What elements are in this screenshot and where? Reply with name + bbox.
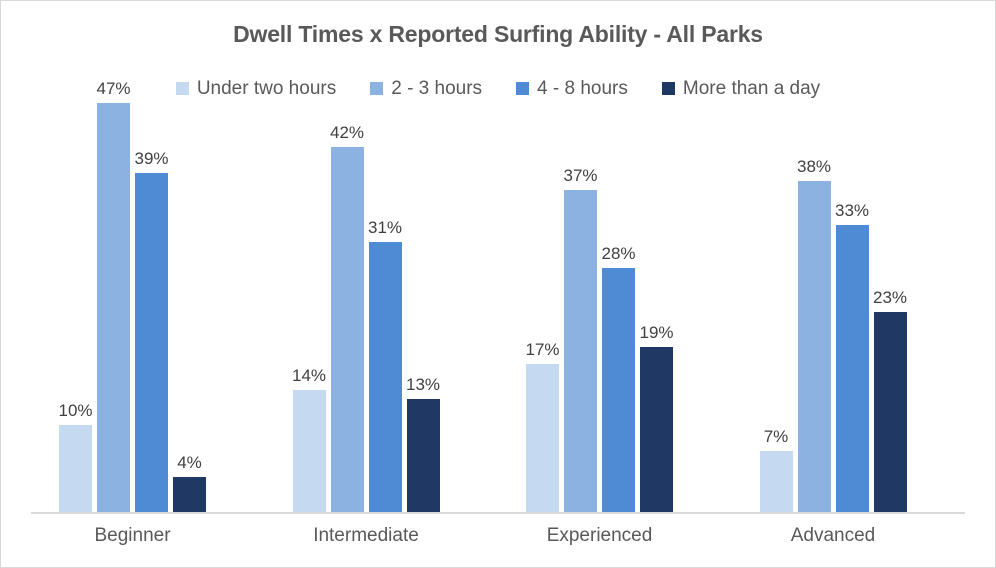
bar[interactable] xyxy=(640,347,673,512)
bar[interactable] xyxy=(836,225,869,512)
bar-wrap: 33% xyxy=(836,61,869,512)
bar[interactable] xyxy=(526,364,559,512)
bar-wrap: 39% xyxy=(135,61,168,512)
bar-wrap: 13% xyxy=(407,61,440,512)
bar[interactable] xyxy=(407,399,440,512)
bar-wrap: 4% xyxy=(173,61,206,512)
bar-wrap: 28% xyxy=(602,61,635,512)
x-axis-line xyxy=(31,512,965,514)
bar[interactable] xyxy=(760,451,793,512)
bar-wrap: 31% xyxy=(369,61,402,512)
bar[interactable] xyxy=(331,147,364,512)
chart-title: Dwell Times x Reported Surfing Ability -… xyxy=(1,21,995,48)
category-label-beginner: Beginner xyxy=(94,525,170,547)
bar[interactable] xyxy=(874,312,907,512)
bar-group-intermediate: 14%42%31%13% xyxy=(293,61,440,512)
bar-group-advanced: 7%38%33%23% xyxy=(760,61,907,512)
bar-wrap: 42% xyxy=(331,61,364,512)
bar-wrap: 37% xyxy=(564,61,597,512)
bar-wrap: 7% xyxy=(760,61,793,512)
bar[interactable] xyxy=(602,268,635,512)
chart-container: Dwell Times x Reported Surfing Ability -… xyxy=(0,0,996,568)
category-label-experienced: Experienced xyxy=(547,525,653,547)
bar-value-label: 23% xyxy=(860,288,920,308)
bar-value-label: 19% xyxy=(627,323,687,343)
bar-wrap: 17% xyxy=(526,61,559,512)
bar-wrap: 10% xyxy=(59,61,92,512)
bar[interactable] xyxy=(293,390,326,512)
bar-group-beginner: 10%47%39%4% xyxy=(59,61,206,512)
bar-value-label: 13% xyxy=(393,375,453,395)
category-axis: BeginnerIntermediateExperiencedAdvanced xyxy=(31,525,965,561)
bar[interactable] xyxy=(798,181,831,512)
bar[interactable] xyxy=(59,425,92,512)
plot-area: 10%47%39%4%14%42%31%13%17%37%28%19%7%38%… xyxy=(31,61,965,512)
category-label-advanced: Advanced xyxy=(791,525,876,547)
bar[interactable] xyxy=(173,477,206,512)
bar-value-label: 4% xyxy=(160,453,220,473)
category-label-intermediate: Intermediate xyxy=(313,525,419,547)
bar[interactable] xyxy=(564,190,597,512)
bar-wrap: 19% xyxy=(640,61,673,512)
bar-group-experienced: 17%37%28%19% xyxy=(526,61,673,512)
bar-wrap: 38% xyxy=(798,61,831,512)
bar-wrap: 47% xyxy=(97,61,130,512)
bar-wrap: 23% xyxy=(874,61,907,512)
